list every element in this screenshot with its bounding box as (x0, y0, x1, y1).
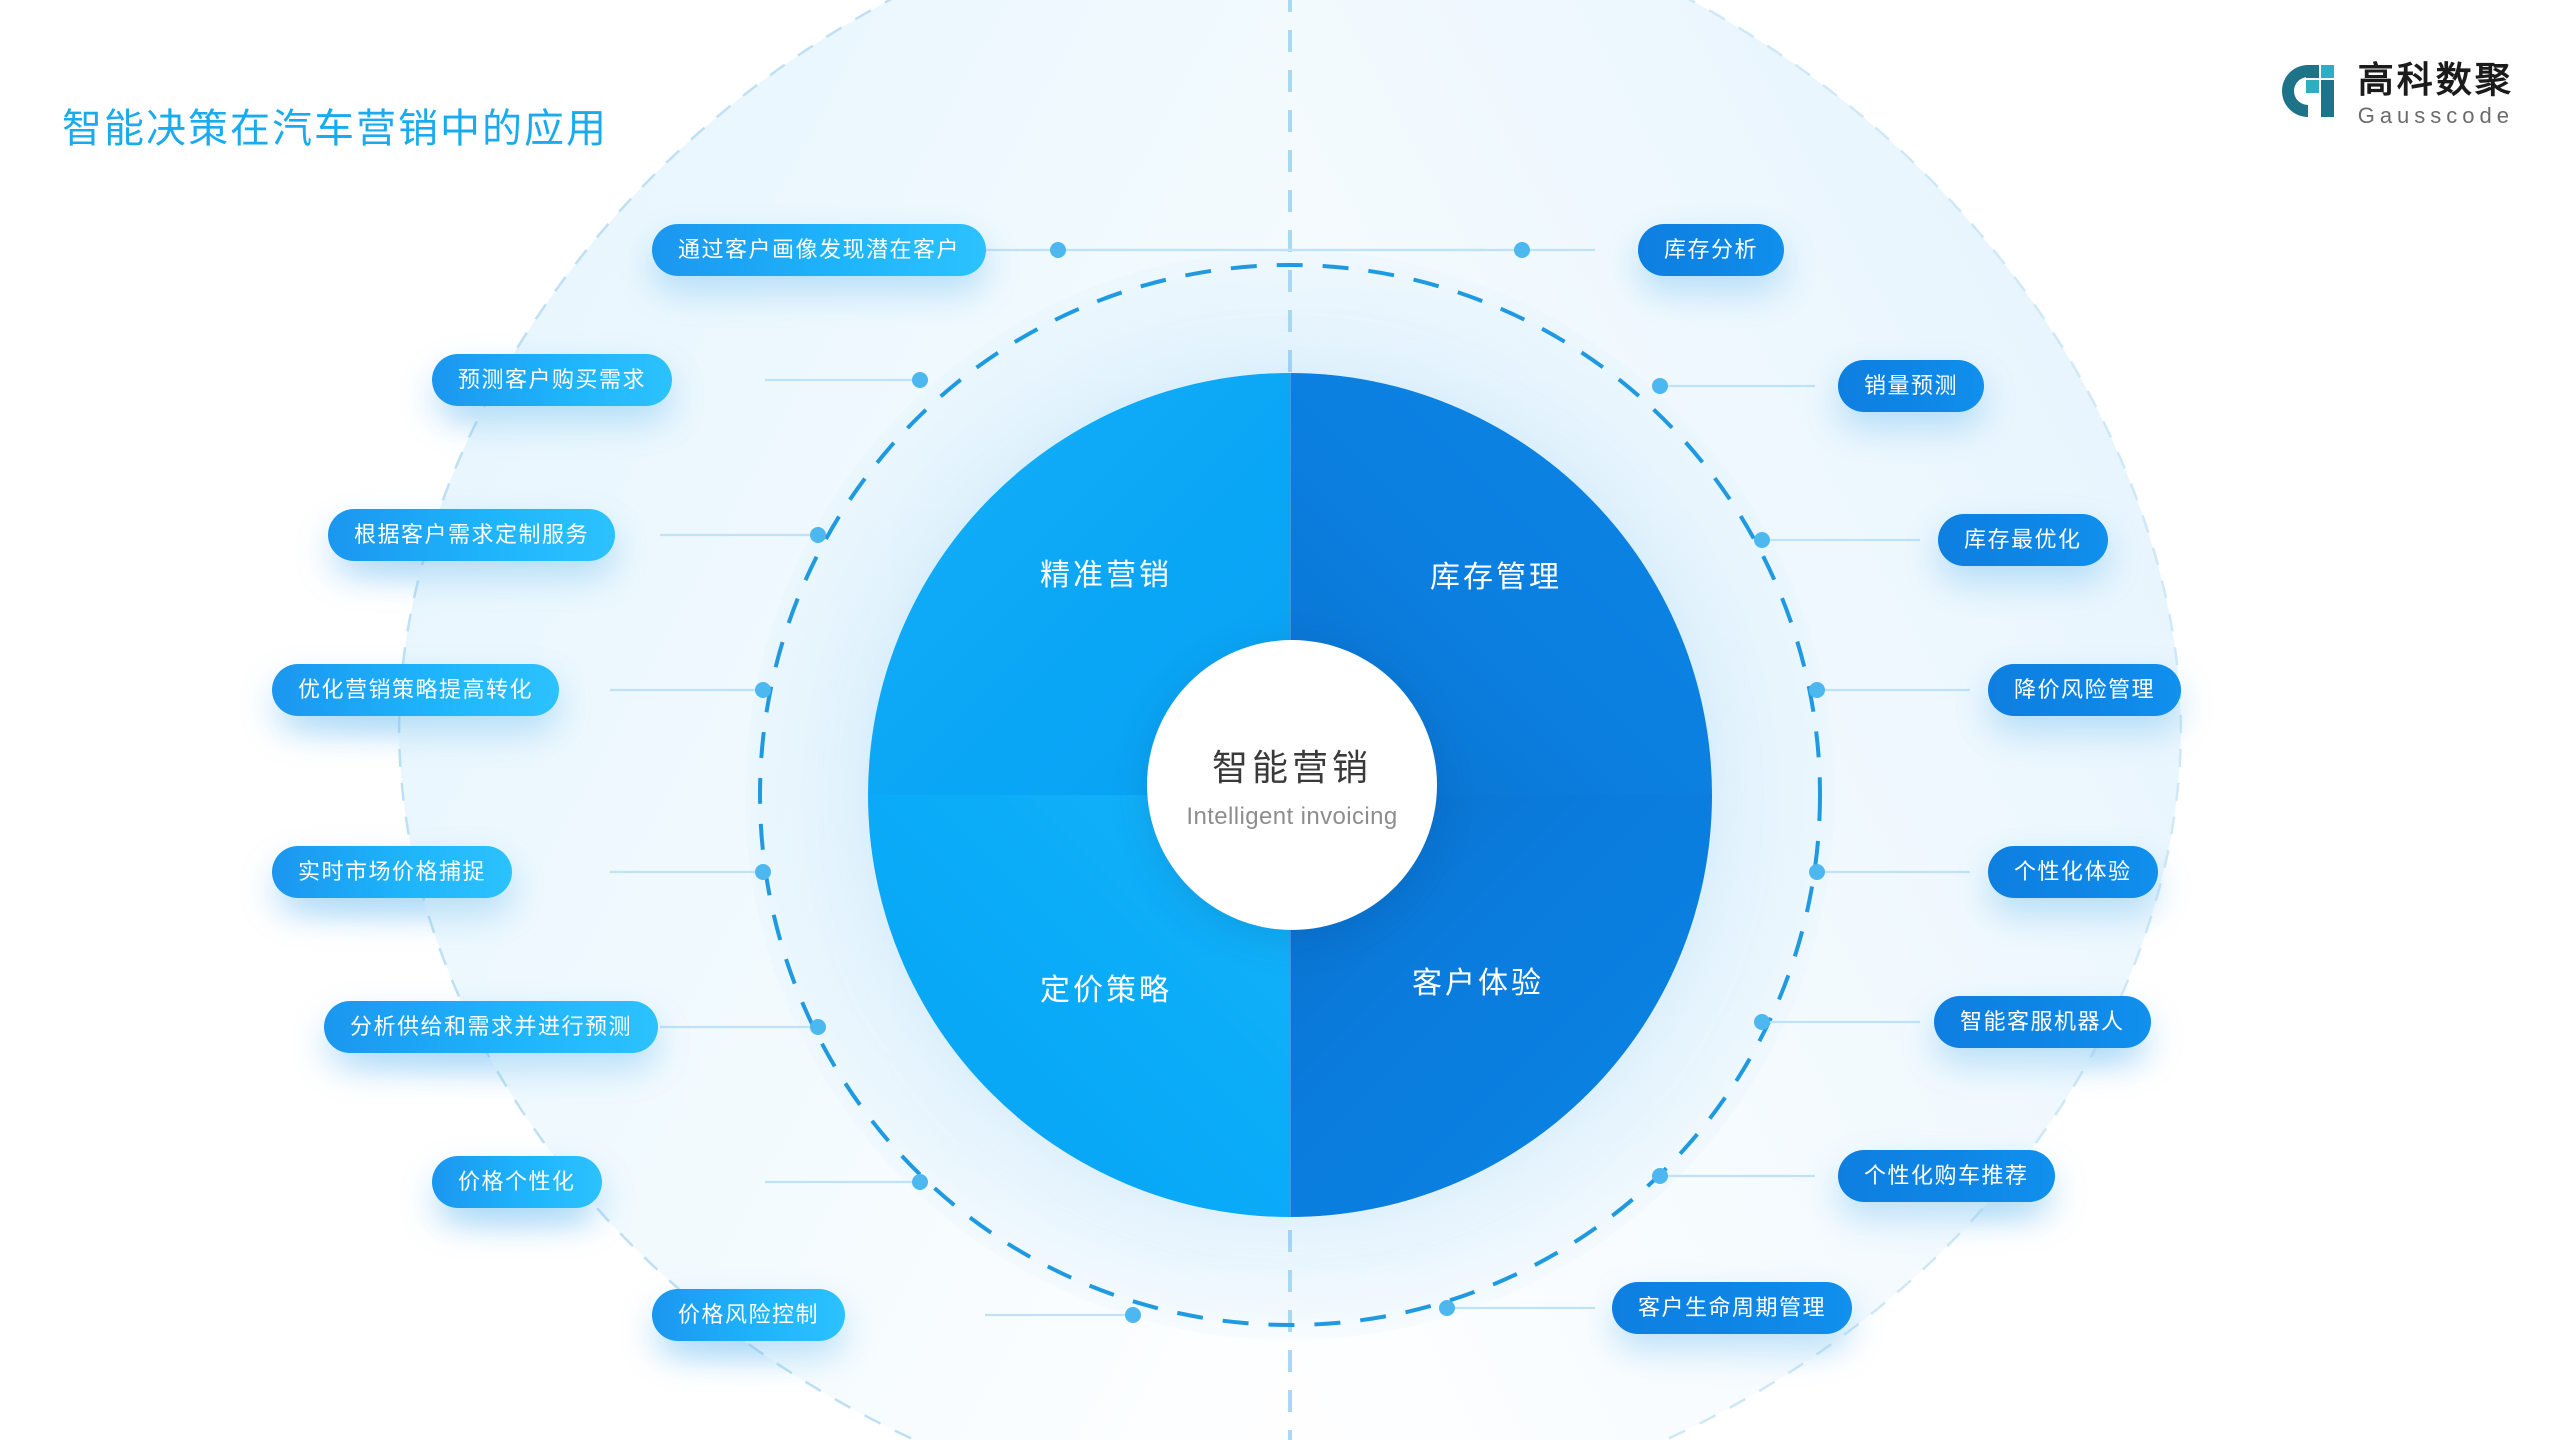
quadrant-label-precision-marketing: 精准营销 (1040, 550, 1172, 594)
left-pill-5[interactable]: 实时市场价格捕捉 (272, 846, 512, 898)
left-pill-2[interactable]: 预测客户购买需求 (432, 354, 672, 406)
left-pill-6[interactable]: 分析供给和需求并进行预测 (324, 1001, 658, 1053)
gausscode-logo-icon (2282, 65, 2340, 125)
quadrant-label-inventory-management: 库存管理 (1430, 552, 1562, 596)
brand-logo: 高科数聚 Gausscode (2282, 62, 2514, 127)
right-pill-6[interactable]: 智能客服机器人 (1934, 996, 2151, 1048)
hub-title-cn: 智能营销 (1212, 739, 1372, 791)
right-pill-8[interactable]: 客户生命周期管理 (1612, 1282, 1852, 1334)
quadrant-label-pricing-strategy: 定价策略 (1040, 965, 1172, 1009)
left-pill-1[interactable]: 通过客户画像发现潜在客户 (652, 224, 986, 276)
quadrant-label-customer-experience: 客户体验 (1412, 958, 1544, 1002)
left-pill-4[interactable]: 优化营销策略提高转化 (272, 664, 559, 716)
page-title: 智能决策在汽车营销中的应用 (62, 96, 608, 154)
right-pill-2[interactable]: 销量预测 (1838, 360, 1984, 412)
hub-title-en: Intelligent invoicing (1186, 803, 1397, 831)
right-pill-5[interactable]: 个性化体验 (1988, 846, 2158, 898)
logo-name-cn: 高科数聚 (2358, 62, 2514, 98)
diagram-canvas: 智能决策在汽车营销中的应用 高科数聚 Gausscode 精准营销 库存管理 定… (0, 0, 2560, 1440)
left-pill-3[interactable]: 根据客户需求定制服务 (328, 509, 615, 561)
core-hub[interactable]: 智能营销 Intelligent invoicing (1147, 640, 1437, 930)
right-pill-3[interactable]: 库存最优化 (1938, 514, 2108, 566)
right-pill-1[interactable]: 库存分析 (1638, 224, 1784, 276)
right-pill-7[interactable]: 个性化购车推荐 (1838, 1150, 2055, 1202)
right-pill-4[interactable]: 降价风险管理 (1988, 664, 2181, 716)
left-pill-7[interactable]: 价格个性化 (432, 1156, 602, 1208)
logo-name-en: Gausscode (2358, 105, 2514, 127)
left-pill-8[interactable]: 价格风险控制 (652, 1289, 845, 1341)
logo-text: 高科数聚 Gausscode (2358, 62, 2514, 127)
